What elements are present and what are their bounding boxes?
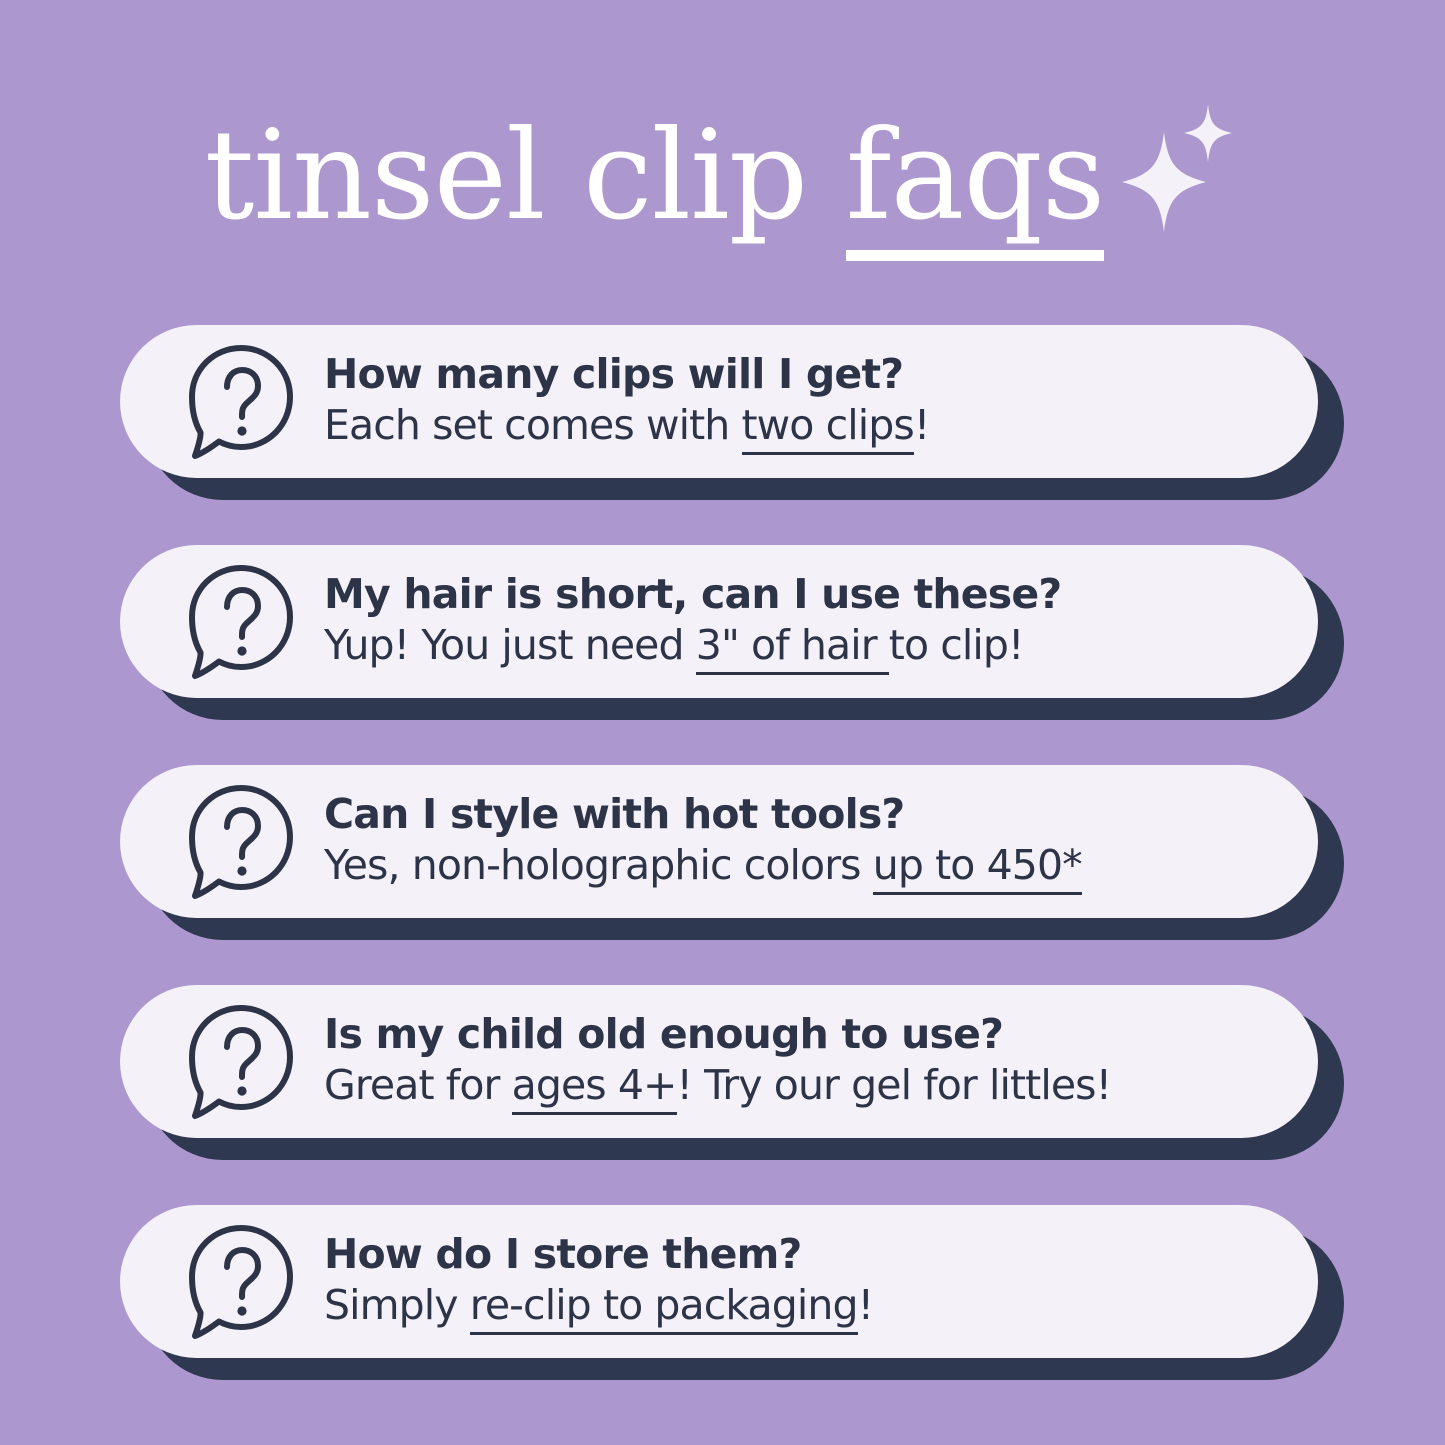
faq-card-text: Is my child old enough to use? Great for…	[324, 1011, 1318, 1112]
faq-card[interactable]: My hair is short, can I use these? Yup! …	[120, 545, 1318, 698]
faq-answer: Yes, non-holographic colors up to 450*	[324, 841, 1318, 890]
faq-answer-before: Great for	[324, 1061, 512, 1109]
faq-card[interactable]: Is my child old enough to use? Great for…	[120, 985, 1318, 1138]
page-title-text: tinsel clip faqs	[205, 114, 1105, 238]
faq-card[interactable]: How do I store them? Simply re-clip to p…	[120, 1205, 1318, 1358]
faq-answer-after: ! Try our gel for littles!	[677, 1061, 1112, 1109]
faq-card-text: How many clips will I get? Each set come…	[324, 351, 1318, 452]
faq-answer-before: Yes, non-holographic colors	[324, 841, 873, 889]
faq-card[interactable]: Can I style with hot tools? Yes, non-hol…	[120, 765, 1318, 918]
sparkle-icon	[1120, 98, 1240, 243]
faq-card-text: Can I style with hot tools? Yes, non-hol…	[324, 791, 1318, 892]
page-title-underlined: faqs	[846, 104, 1105, 261]
question-speech-bubble-icon	[182, 343, 300, 461]
faq-answer-highlight: 3" of hair	[696, 621, 889, 675]
faq-question: Is my child old enough to use?	[324, 1011, 1318, 1058]
faq-card-body[interactable]: How many clips will I get? Each set come…	[120, 325, 1318, 478]
faq-answer-highlight: up to 450*	[873, 841, 1082, 895]
question-speech-bubble-icon	[182, 783, 300, 901]
faq-card-body[interactable]: How do I store them? Simply re-clip to p…	[120, 1205, 1318, 1358]
faq-question: How many clips will I get?	[324, 351, 1318, 398]
faq-answer-highlight: re-clip to packaging	[470, 1281, 858, 1335]
faq-answer-after: to clip!	[889, 621, 1024, 669]
faq-answer-before: Simply	[324, 1281, 470, 1329]
faq-answer: Simply re-clip to packaging!	[324, 1281, 1318, 1330]
faq-card-text: My hair is short, can I use these? Yup! …	[324, 571, 1318, 672]
faq-question: How do I store them?	[324, 1231, 1318, 1278]
faq-poster: tinsel clip faqs How ma	[0, 0, 1445, 1445]
faq-answer: Great for ages 4+! Try our gel for littl…	[324, 1061, 1318, 1110]
faq-answer-after: !	[858, 1281, 874, 1329]
page-title: tinsel clip faqs	[0, 86, 1445, 266]
faq-answer: Yup! You just need 3" of hair to clip!	[324, 621, 1318, 670]
faq-card[interactable]: How many clips will I get? Each set come…	[120, 325, 1318, 478]
faq-answer-after: !	[914, 401, 930, 449]
question-speech-bubble-icon	[182, 1003, 300, 1121]
faq-answer: Each set comes with two clips!	[324, 401, 1318, 450]
faq-answer-before: Yup! You just need	[324, 621, 696, 669]
faq-question: Can I style with hot tools?	[324, 791, 1318, 838]
question-speech-bubble-icon	[182, 563, 300, 681]
faq-answer-before: Each set comes with	[324, 401, 742, 449]
question-speech-bubble-icon	[182, 1223, 300, 1341]
faq-card-body[interactable]: My hair is short, can I use these? Yup! …	[120, 545, 1318, 698]
faq-question: My hair is short, can I use these?	[324, 571, 1318, 618]
faq-answer-highlight: two clips	[742, 401, 914, 455]
faq-card-body[interactable]: Can I style with hot tools? Yes, non-hol…	[120, 765, 1318, 918]
faq-answer-highlight: ages 4+	[512, 1061, 677, 1115]
faq-list: How many clips will I get? Each set come…	[120, 325, 1360, 1425]
page-title-plain: tinsel clip	[205, 104, 846, 248]
faq-card-text: How do I store them? Simply re-clip to p…	[324, 1231, 1318, 1332]
faq-card-body[interactable]: Is my child old enough to use? Great for…	[120, 985, 1318, 1138]
